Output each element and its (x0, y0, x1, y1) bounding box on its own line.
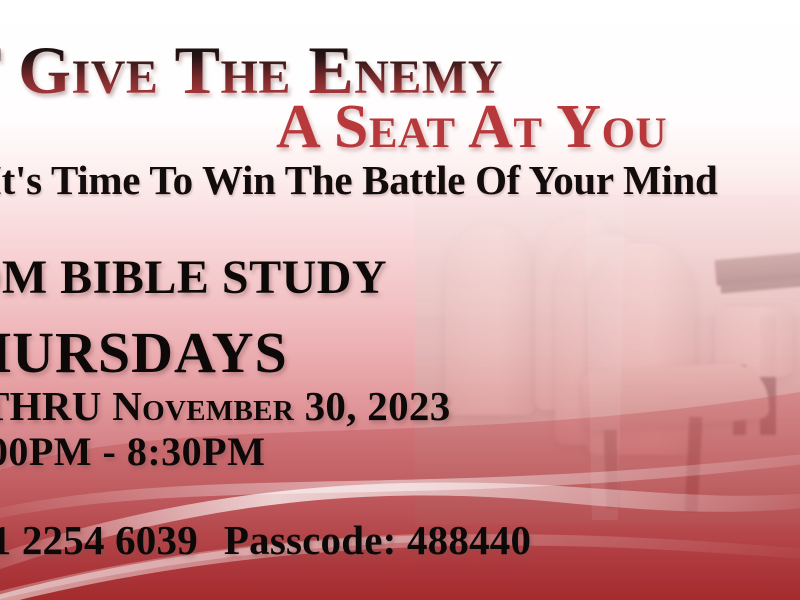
meeting-access-line: 51 2254 6039Passcode: 488440 (0, 520, 531, 561)
text-layer: T Give The Enemy A Seat At You It's Time… (0, 0, 800, 600)
flyer-canvas: T Give The Enemy A Seat At You It's Time… (0, 0, 800, 600)
meeting-day-label: HURSDAYS (0, 324, 288, 382)
time-range: :00PM - 8:30PM (0, 432, 265, 472)
meeting-id: 51 2254 6039 (0, 517, 198, 563)
subtitle: It's Time To Win The Battle Of Your Mind (0, 160, 718, 201)
bible-study-label: OM BIBLE STUDY (0, 254, 387, 302)
passcode: Passcode: 488440 (224, 517, 531, 563)
date-range: THRU November 30, 2023 (0, 386, 451, 427)
headline-line-2: A Seat At You (276, 96, 667, 158)
